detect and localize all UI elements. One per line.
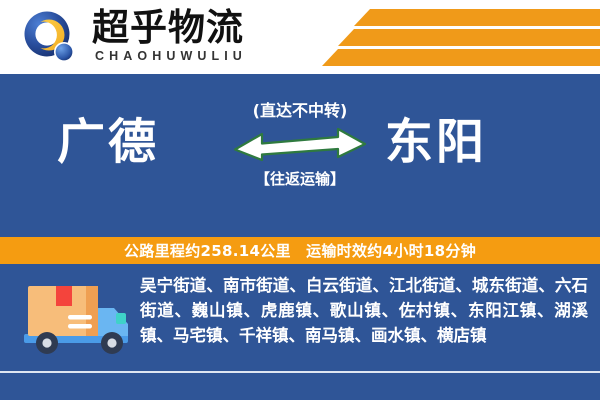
- origin-city: 广德: [57, 114, 159, 170]
- direct-transport-tag: (直达不中转): [215, 100, 385, 122]
- district-list-text: 吴宁街道、南市街道、白云街道、江北街道、城东街道、六石街道、巍山镇、虎鹿镇、歌山…: [140, 273, 588, 348]
- roundtrip-transport-tag: 【往返运输】: [215, 169, 385, 190]
- footer-divider: [0, 371, 600, 373]
- double-headed-arrow-icon: [215, 127, 385, 165]
- delivery-truck-icon: [20, 280, 132, 364]
- destination-city: 东阳: [385, 114, 487, 170]
- distance-duration-bar: 公路里程约258.14公里 运输时效约4小时18分钟: [0, 237, 600, 264]
- orange-diagonal-stripes-icon: [300, 0, 600, 74]
- route-section: 广德 (直达不中转) 【往返运输】 东阳: [0, 74, 600, 237]
- coverage-districts-section: 吴宁街道、南市街道、白云街道、江北街道、城东街道、六石街道、巍山镇、虎鹿镇、歌山…: [0, 264, 600, 400]
- brand-name-cn: 超乎物流: [92, 6, 244, 50]
- banner-header: 超乎物流 CHAOHUWULIU: [0, 0, 600, 74]
- logistics-route-banner: 超乎物流 CHAOHUWULIU 广德 (直达不中转) 【往返运输】 东阳 公路…: [0, 0, 600, 400]
- route-middle-group: (直达不中转) 【往返运输】: [215, 100, 385, 190]
- circle-crescent-logo-icon: [22, 9, 78, 65]
- distance-duration-text: 公路里程约258.14公里 运输时效约4小时18分钟: [124, 240, 476, 261]
- brand-name-en: CHAOHUWULIU: [95, 49, 247, 63]
